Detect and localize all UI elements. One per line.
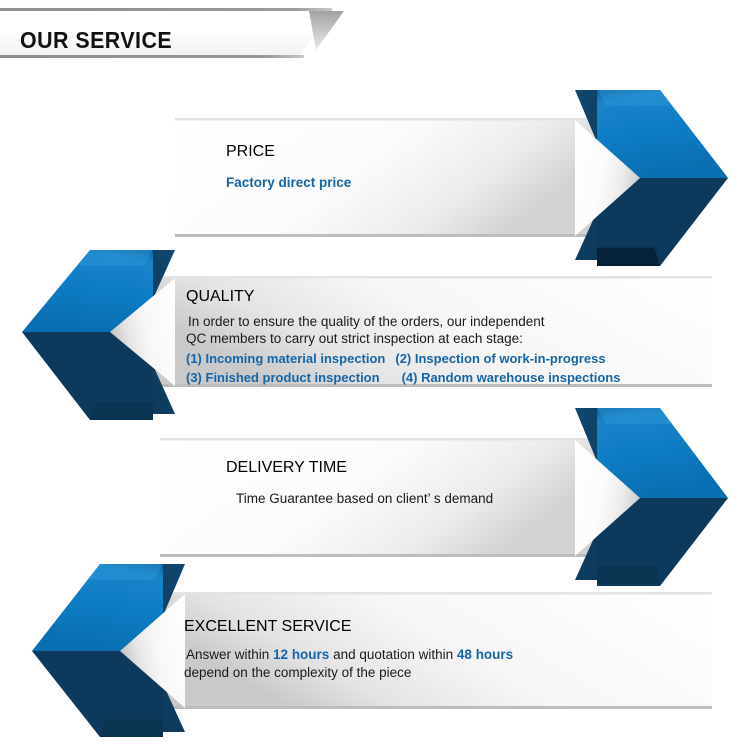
page-title: OUR SERVICE	[20, 27, 172, 54]
quality-item-row-2: (3) Finished product inspection(4) Rando…	[186, 368, 620, 388]
quality-item-3: (3) Finished product inspection	[186, 370, 380, 385]
quality-item-1: (1) Incoming material inspection	[186, 351, 385, 366]
excellent-service-highlight-1: 12 hours	[273, 647, 329, 662]
excellent-service-heading: EXCELLENT SERVICE	[184, 618, 351, 636]
arrow-shape-left-excellent	[0, 552, 750, 737]
price-line-1: Factory direct price	[226, 174, 351, 192]
delivery-time-heading: DELIVERY TIME	[226, 459, 347, 477]
excellent-service-text-part-2: and quotation within	[329, 647, 457, 662]
header-banner: OUR SERVICE	[0, 8, 750, 58]
quality-item-4: (4) Random warehouse inspections	[402, 370, 621, 385]
delivery-time-line-1: Time Guarantee based on client’ s demand	[236, 490, 493, 508]
quality-item-2: (2) Inspection of work-in-progress	[395, 351, 605, 366]
excellent-service-rich-line: Answer within 12 hours and quotation wit…	[186, 646, 513, 664]
excellent-service-line-2: depend on the complexity of the piece	[184, 664, 411, 682]
quality-heading: QUALITY	[186, 288, 254, 306]
quality-item-row-1: (1) Incoming material inspection(2) Insp…	[186, 349, 606, 369]
quality-line-2: QC members to carry out strict inspectio…	[186, 330, 523, 348]
quality-line-1: In order to ensure the quality of the or…	[188, 313, 544, 331]
infographic-canvas: OUR SERVICE	[0, 0, 750, 756]
price-heading: PRICE	[226, 143, 275, 161]
excellent-service-highlight-2: 48 hours	[457, 647, 513, 662]
section-quality: QUALITY In order to ensure the quality o…	[0, 240, 750, 420]
excellent-service-text-part-1: Answer within	[186, 647, 273, 662]
section-excellent-service: EXCELLENT SERVICE Answer within 12 hours…	[0, 552, 750, 737]
